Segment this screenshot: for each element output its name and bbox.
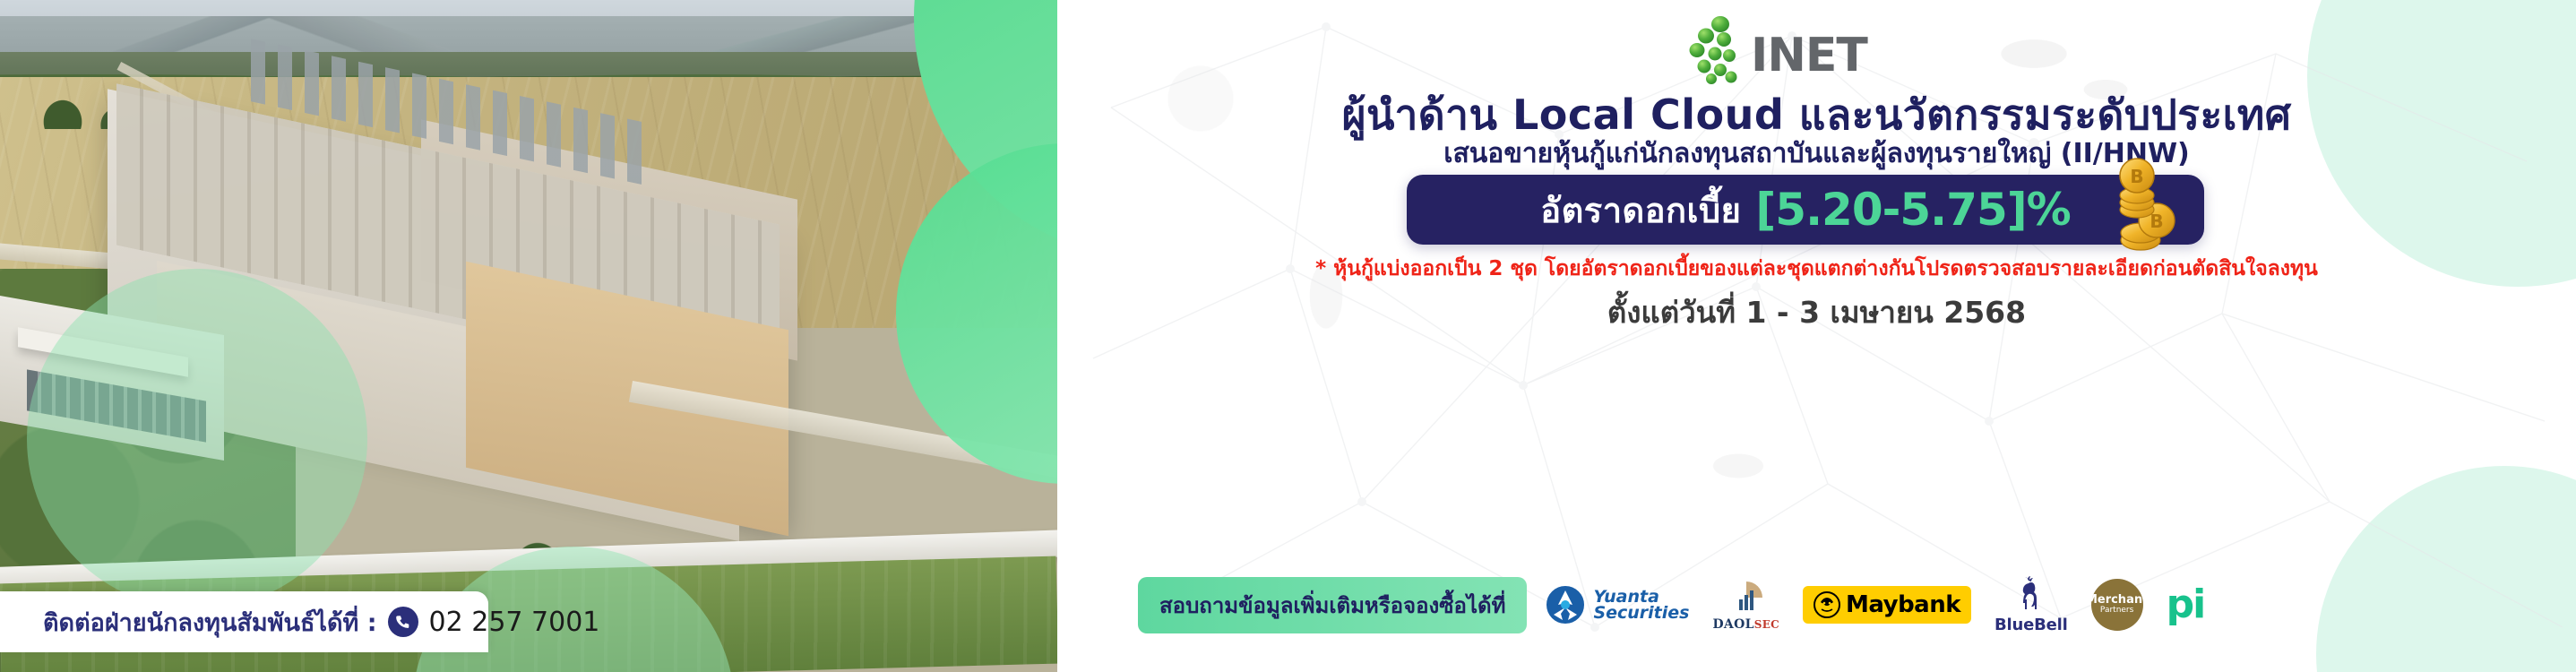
yuanta-line2: Securities (1593, 605, 1689, 621)
bluebell-deer-icon (2011, 576, 2052, 612)
contact-phone-number[interactable]: 02 257 7001 (429, 607, 600, 638)
phone-icon (388, 607, 418, 637)
maybank-wordmark: Maybank (1846, 591, 1960, 618)
interest-rate-box: อัตราดอกเบี้ย [5.20-5.75]% (1407, 175, 2204, 245)
partner-logo-bluebell[interactable]: BlueBell (1994, 576, 2068, 634)
daol-line2: SEC (1754, 618, 1779, 631)
partner-logo-pi[interactable]: pi (2167, 588, 2205, 622)
partner-logo-merchant[interactable]: Merchant Partners (2091, 579, 2143, 631)
merchant-line1: Merchant (2086, 594, 2148, 606)
daol-circle-icon (1727, 578, 1766, 617)
daol-line1: DAOL (1712, 617, 1753, 632)
bitcoin-coins-icon: B B (2101, 158, 2178, 253)
maybank-tiger-icon (1814, 591, 1840, 618)
page-subtitle: เสนอขายหุ้นกู้แก่นักลงทุนสถาบันและผู้ลงท… (1057, 133, 2576, 175)
yuanta-star-icon (1545, 584, 1586, 625)
partner-logo-daol[interactable]: DAOLSEC (1712, 578, 1779, 632)
svg-text:B: B (2130, 166, 2143, 187)
investor-relations-contact: ติดต่อฝ่ายนักลงทุนสัมพันธ์ได้ที่ : 02 25… (0, 591, 488, 652)
daol-wordmark: DAOLSEC (1712, 617, 1779, 632)
merchant-line2: Partners (2100, 606, 2133, 616)
decor-mint-circle-left (27, 269, 367, 609)
interest-rate-value: [5.20-5.75]% (1755, 184, 2070, 236)
cta-row: สอบถามข้อมูลเพิ่มเติมหรือจองซื้อได้ที่ Y… (1057, 578, 2576, 632)
offering-disclaimer: * หุ้นกู้แบ่งออกเป็น 2 ชุด โดยอัตราดอกเบ… (1057, 253, 2576, 285)
offering-date-range: ตั้งแต่วันที่ 1 - 3 เมษายน 2568 (1057, 289, 2576, 336)
content-panel: INET ผู้นำด้าน Local Cloud และนวัตกรรมระ… (1057, 0, 2576, 672)
interest-rate-label: อัตราดอกเบี้ย (1540, 183, 1741, 237)
contact-label: ติดต่อฝ่ายนักลงทุนสัมพันธ์ได้ที่ : (43, 603, 377, 642)
inet-dots-icon (1684, 16, 1760, 84)
partner-logo-maybank[interactable]: Maybank (1803, 586, 1971, 624)
bluebell-wordmark: BlueBell (1994, 616, 2068, 634)
more-info-button[interactable]: สอบถามข้อมูลเพิ่มเติมหรือจองซื้อได้ที่ (1138, 577, 1527, 633)
yuanta-wordmark: Yuanta Securities (1593, 589, 1689, 621)
inet-logo: INET (1684, 16, 1917, 84)
inet-bond-offering-banner: INET ผู้นำด้าน Local Cloud และนวัตกรรมระ… (0, 0, 2576, 672)
partner-logos: Yuanta Securities DAOLSEC (1545, 576, 2204, 634)
partner-logo-yuanta[interactable]: Yuanta Securities (1545, 584, 1689, 625)
inet-logo-text: INET (1751, 29, 1867, 82)
